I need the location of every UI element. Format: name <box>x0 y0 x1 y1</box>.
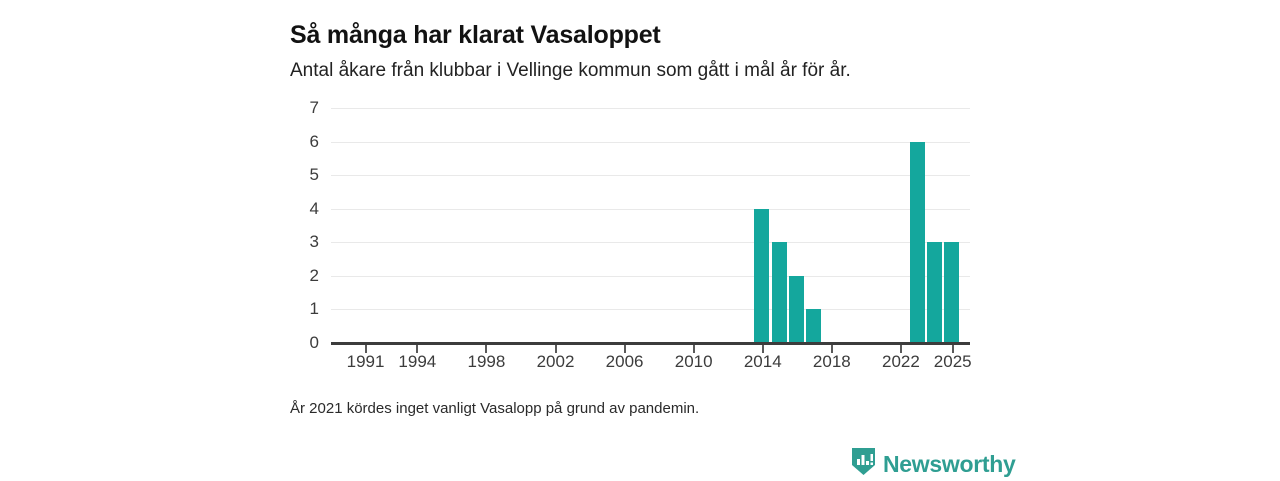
x-axis-tick-label: 1991 <box>347 352 385 372</box>
gridline-y-2 <box>331 276 970 277</box>
bar-2024[interactable] <box>927 242 942 343</box>
gridline-y-3 <box>331 242 970 243</box>
x-axis-tick-label: 2018 <box>813 352 851 372</box>
chart-plot-area: 01234567 <box>331 108 970 343</box>
x-axis-line <box>331 342 970 345</box>
gridline-y-1 <box>331 309 970 310</box>
gridline-y-7 <box>331 108 970 109</box>
y-axis-tick-label: 7 <box>310 98 319 118</box>
y-axis-tick-label: 5 <box>310 165 319 185</box>
newsworthy-bar-chart-icon <box>851 447 876 481</box>
x-axis-tick-label: 2010 <box>675 352 713 372</box>
chart-subtitle: Antal åkare från klubbar i Vellinge komm… <box>290 60 851 82</box>
y-axis-tick-label: 1 <box>310 299 319 319</box>
gridline-y-4 <box>331 209 970 210</box>
bar-2017[interactable] <box>806 309 821 343</box>
chart-footnote: År 2021 kördes inget vanligt Vasalopp på… <box>290 400 699 417</box>
x-axis-tick-label: 1994 <box>398 352 436 372</box>
x-axis-tick-label: 2002 <box>537 352 575 372</box>
gridline-y-6 <box>331 142 970 143</box>
logo-text: Newsworthy <box>883 451 1015 478</box>
bar-2023[interactable] <box>910 142 925 343</box>
x-axis-tick-label: 2025 <box>934 352 972 372</box>
y-axis-tick-label: 3 <box>310 232 319 252</box>
bar-2016[interactable] <box>789 276 804 343</box>
page-title: Så många har klarat Vasaloppet <box>290 21 661 50</box>
x-axis-tick-label: 1998 <box>468 352 506 372</box>
x-axis-tick-label: 2014 <box>744 352 782 372</box>
bar-2014[interactable] <box>754 209 769 343</box>
x-axis-tick-label: 2006 <box>606 352 644 372</box>
y-axis-tick-label: 4 <box>310 199 319 219</box>
bar-2025[interactable] <box>944 242 959 343</box>
newsworthy-logo[interactable]: Newsworthy <box>851 447 1015 481</box>
x-axis-tick-label: 2022 <box>882 352 920 372</box>
y-axis-tick-label: 6 <box>310 132 319 152</box>
y-axis-tick-label: 0 <box>310 333 319 353</box>
gridline-y-5 <box>331 175 970 176</box>
bar-2015[interactable] <box>772 242 787 343</box>
y-axis-tick-label: 2 <box>310 266 319 286</box>
